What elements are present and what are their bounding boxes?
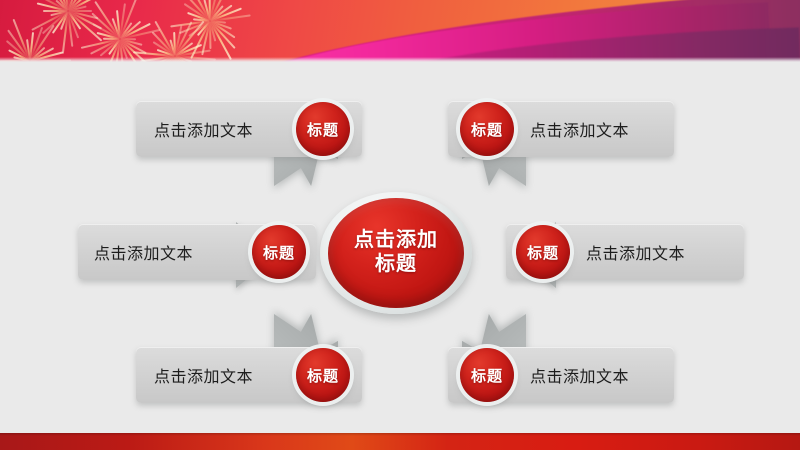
callout-middle-right[interactable]: 标题 点击添加文本 <box>506 224 744 280</box>
callout-middle-left-text: 点击添加文本 <box>94 240 193 264</box>
center-title-line-2: 标题 <box>375 253 417 277</box>
callout-middle-left-badge-label: 标题 <box>263 242 295 263</box>
callout-bottom-right-badge[interactable]: 标题 <box>460 348 514 402</box>
callout-bottom-right-text: 点击添加文本 <box>530 363 629 387</box>
callout-middle-right-text: 点击添加文本 <box>586 240 685 264</box>
callout-middle-right-badge-label: 标题 <box>527 242 559 263</box>
footer-bar <box>0 433 800 450</box>
decorative-header-banner <box>0 0 800 62</box>
fireworks-graphic <box>0 0 330 62</box>
callout-top-left-badge-label: 标题 <box>307 119 339 140</box>
center-node[interactable]: 点击添加 标题 <box>320 192 472 314</box>
callout-top-right-badge-label: 标题 <box>471 119 503 140</box>
center-title-line-1: 点击添加 <box>354 229 438 253</box>
callout-middle-right-badge[interactable]: 标题 <box>516 225 570 279</box>
callout-bottom-right-badge-label: 标题 <box>471 365 503 386</box>
callout-top-left-badge[interactable]: 标题 <box>296 102 350 156</box>
callout-bottom-left-text: 点击添加文本 <box>154 363 253 387</box>
callout-middle-left-badge[interactable]: 标题 <box>252 225 306 279</box>
callout-top-right-badge[interactable]: 标题 <box>460 102 514 156</box>
callout-bottom-left-badge-label: 标题 <box>307 365 339 386</box>
callout-bottom-left-badge[interactable]: 标题 <box>296 348 350 402</box>
callout-top-right-text: 点击添加文本 <box>530 117 629 141</box>
callout-bottom-left[interactable]: 点击添加文本 标题 <box>136 347 362 403</box>
callout-top-left[interactable]: 点击添加文本 标题 <box>136 101 362 157</box>
callout-bottom-right[interactable]: 标题 点击添加文本 <box>448 347 674 403</box>
callout-top-right[interactable]: 标题 点击添加文本 <box>448 101 674 157</box>
center-circle[interactable]: 点击添加 标题 <box>328 198 464 308</box>
callout-top-left-text: 点击添加文本 <box>154 117 253 141</box>
diagram-stage: 点击添加 标题 点击添加文本 标题 标题 点击添加文本 点击添加文本 标题 标题… <box>0 62 800 433</box>
callout-middle-left[interactable]: 点击添加文本 标题 <box>78 224 316 280</box>
